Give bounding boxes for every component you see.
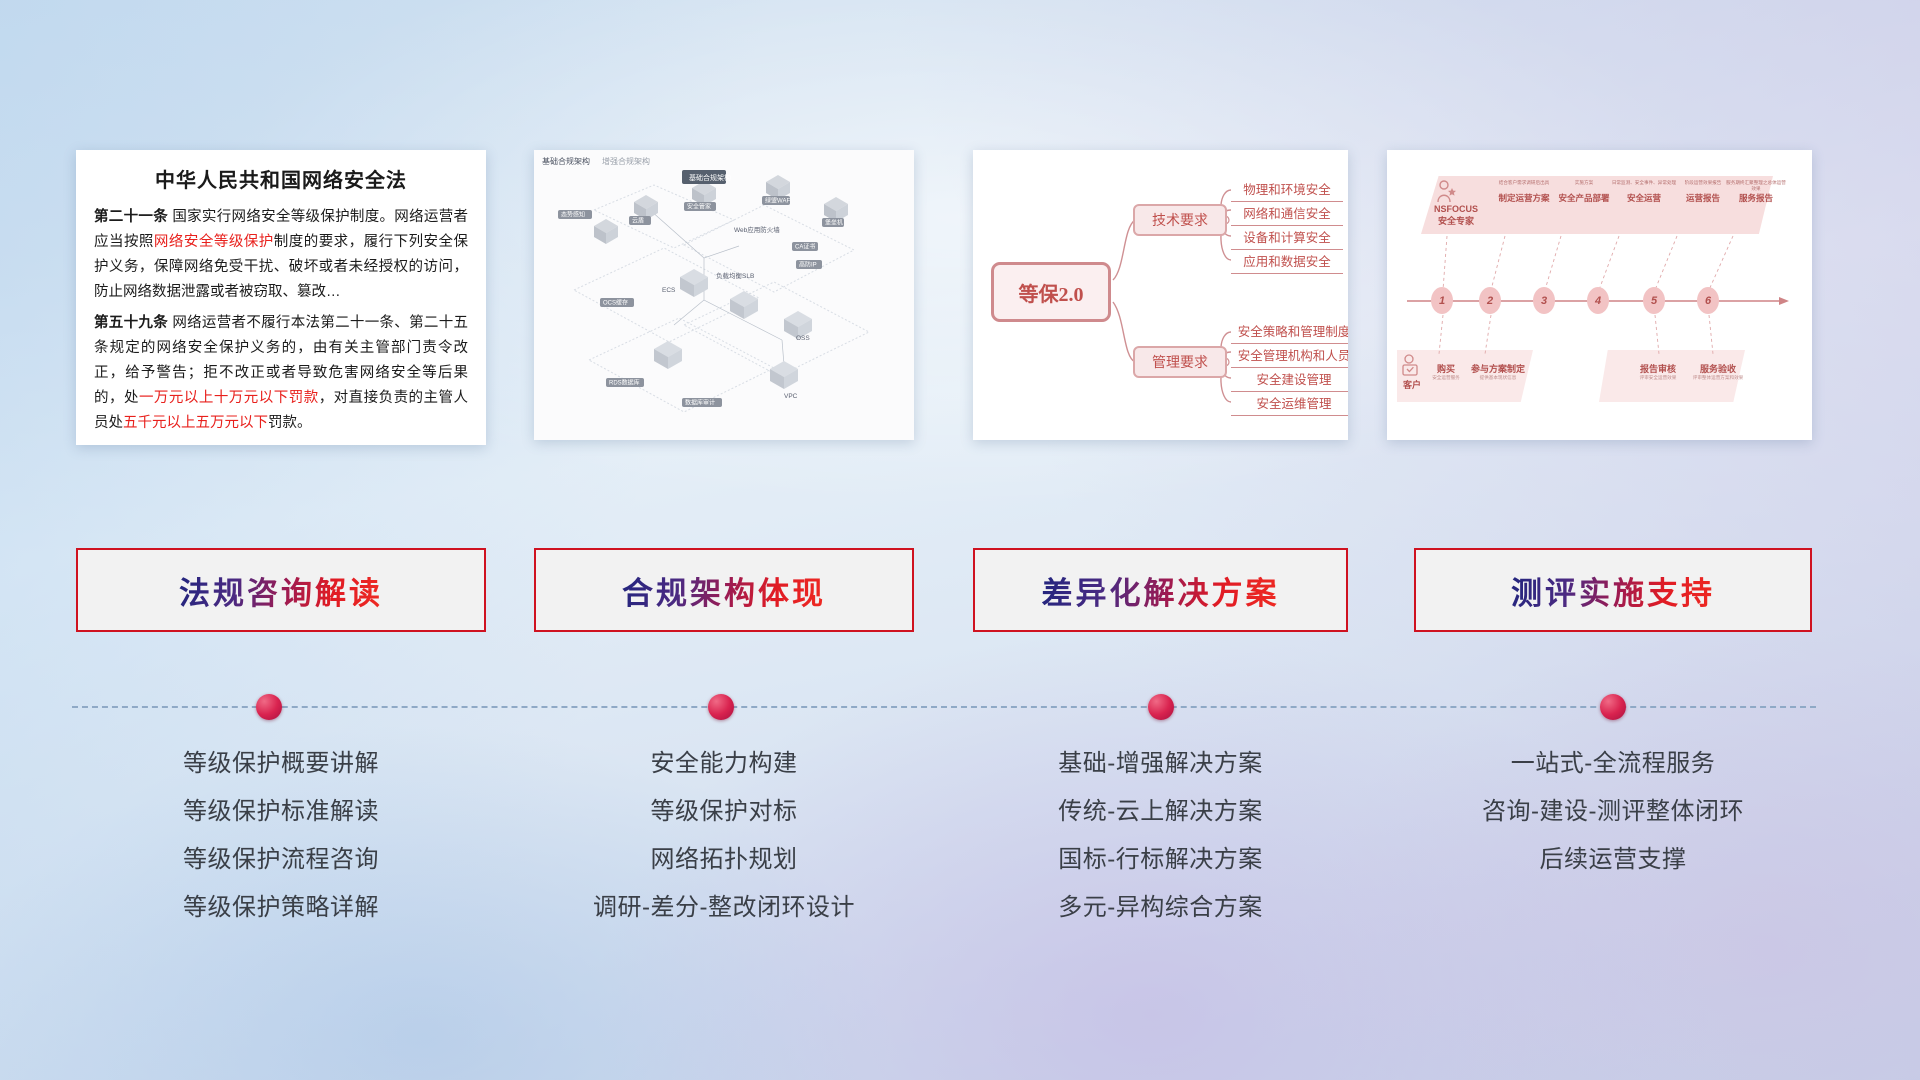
title-plate-1[interactable]: 法规咨询解读 <box>76 548 486 632</box>
law-article-number-59: 第五十九条 <box>94 315 168 331</box>
timeline-dot-4[interactable] <box>1600 694 1626 720</box>
title-plate-4[interactable]: 测评实施支持 <box>1414 548 1812 632</box>
list-item[interactable]: 咨询-建设-测评整体闭环 <box>1414 788 1812 836</box>
arch-node-2: 安全管家 <box>687 203 711 211</box>
image-card-row: 中华人民共和国网络安全法 第二十一条 国家实行网络安全等级保护制度。网络运营者应… <box>0 150 1920 450</box>
arch-node-7: OCS缓存 <box>603 299 628 307</box>
nsfocus-axis-node-5[interactable]: 5 <box>1643 287 1665 314</box>
list-item[interactable]: 调研-差分-整改闭环设计 <box>534 884 914 932</box>
mindmap-diagram: 等保2.0 技术要求 管理要求 物理和环境安全 网络和通信安全 设备和计算安全 … <box>973 150 1348 440</box>
mindmap-branch-management[interactable]: 管理要求 <box>1133 346 1227 378</box>
arch-label-slb: 负载均衡SLB <box>716 271 754 280</box>
nsfocus-bottom-step-1[interactable]: 购买 安全运营服务 <box>1425 362 1467 381</box>
arch-label-ecs: ECS <box>662 287 676 294</box>
arch-node-0: 态势感知 <box>561 211 585 219</box>
nsfocus-diagram: NSFOCUS 安全专家 结合客户需求调研后出具 制定运营方案 实施方案 安全产… <box>1387 150 1812 440</box>
list-item[interactable]: 网络拓扑规划 <box>534 836 914 884</box>
law-paragraph-21: 第二十一条 国家实行网络安全等级保护制度。网络运营者应当按照网络安全等级保护制度… <box>94 205 468 305</box>
arch-node-5: CA证书 <box>795 243 815 251</box>
nsfocus-axis-node-6[interactable]: 6 <box>1697 287 1719 314</box>
list-item[interactable]: 多元-异构综合方案 <box>973 884 1348 932</box>
arch-node-3: 绿盟WAF <box>765 197 790 205</box>
law-title: 中华人民共和国网络安全法 <box>94 164 468 193</box>
title-plate-3-label: 差异化解决方案 <box>1042 568 1280 613</box>
list-item[interactable]: 等级保护概要讲解 <box>76 740 486 788</box>
list-item[interactable]: 等级保护标准解读 <box>76 788 486 836</box>
nsfocus-bottom-step-4-sub: 评审整体运营方案和效果 <box>1685 375 1751 381</box>
list-item[interactable]: 传统-云上解决方案 <box>973 788 1348 836</box>
nsfocus-bottom-step-3-sub: 评审安全运营效果 <box>1627 375 1689 381</box>
mindmap-leaf-mgmt-2[interactable]: 安全管理机构和人员 <box>1231 342 1348 368</box>
law-article-number-21: 第二十一条 <box>94 209 168 225</box>
arch-node-9: 数据库审计 <box>685 399 715 407</box>
mindmap-leaf-tech-4[interactable]: 应用和数据安全 <box>1231 248 1343 274</box>
title-plate-4-label: 测评实施支持 <box>1511 568 1715 613</box>
card-cloud-architecture[interactable]: 基础合规架构 增强合规架构 <box>534 150 914 440</box>
list-item[interactable]: 等级保护对标 <box>534 788 914 836</box>
timeline-dot-2[interactable] <box>708 694 734 720</box>
arch-node-6: 高防IP <box>799 261 817 269</box>
mindmap-leaf-mgmt-3[interactable]: 安全建设管理 <box>1231 366 1348 392</box>
mindmap-branch-technical[interactable]: 技术要求 <box>1133 204 1227 236</box>
arch-label-waf: Web应用防火墙 <box>734 225 780 234</box>
law-highlight-59-b: 五千元以上五万元以下 <box>123 415 268 431</box>
law-body: 中华人民共和国网络安全法 第二十一条 国家实行网络安全等级保护制度。网络运营者应… <box>76 150 486 445</box>
column-list-3: 基础-增强解决方案 传统-云上解决方案 国标-行标解决方案 多元-异构综合方案 <box>973 740 1348 932</box>
list-item[interactable]: 后续运营支撑 <box>1414 836 1812 884</box>
nsfocus-bottom-step-4-main: 服务验收 <box>1685 362 1751 375</box>
nsfocus-axis-node-3[interactable]: 3 <box>1533 287 1555 314</box>
architecture-diagram: 基础合规架构 增强合规架构 <box>534 150 914 440</box>
title-plate-1-label: 法规咨询解读 <box>179 568 383 613</box>
card-cybersecurity-law[interactable]: 中华人民共和国网络安全法 第二十一条 国家实行网络安全等级保护制度。网络运营者应… <box>76 150 486 445</box>
law-highlight-21: 网络安全等级保护 <box>154 234 274 250</box>
mindmap-leaf-mgmt-1[interactable]: 安全策略和管理制度 <box>1231 318 1348 344</box>
nsfocus-axis-node-1[interactable]: 1 <box>1431 287 1453 314</box>
column-list-4: 一站式-全流程服务 咨询-建设-测评整体闭环 后续运营支撑 <box>1414 740 1812 884</box>
timeline-dot-1[interactable] <box>256 694 282 720</box>
nsfocus-bottom-step-1-main: 购买 <box>1425 362 1467 375</box>
card-nsfocus-timeline[interactable]: NSFOCUS 安全专家 结合客户需求调研后出具 制定运营方案 实施方案 安全产… <box>1387 150 1812 440</box>
mindmap-leaf-tech-1[interactable]: 物理和环境安全 <box>1231 176 1343 202</box>
column-list-2: 安全能力构建 等级保护对标 网络拓扑规划 调研-差分-整改闭环设计 <box>534 740 914 932</box>
nsfocus-bottom-step-4[interactable]: 服务验收 评审整体运营方案和效果 <box>1685 362 1751 381</box>
arch-node-8: RDS数据库 <box>609 379 640 387</box>
list-item[interactable]: 基础-增强解决方案 <box>973 740 1348 788</box>
nsfocus-bottom-step-1-sub: 安全运营服务 <box>1425 375 1467 381</box>
timeline-axis <box>0 694 1920 720</box>
arch-banner-label: 基础合规架构 <box>689 173 731 182</box>
column-list-1: 等级保护概要讲解 等级保护标准解读 等级保护流程咨询 等级保护策略详解 <box>76 740 486 932</box>
mindmap-leaf-mgmt-4[interactable]: 安全运维管理 <box>1231 390 1348 416</box>
mindmap-leaf-tech-2[interactable]: 网络和通信安全 <box>1231 200 1343 226</box>
nsfocus-bottom-step-3-main: 报告审核 <box>1627 362 1689 375</box>
list-item[interactable]: 一站式-全流程服务 <box>1414 740 1812 788</box>
mindmap-leaf-tech-3[interactable]: 设备和计算安全 <box>1231 224 1343 250</box>
arch-label-vpc: VPC <box>784 393 798 400</box>
mindmap-root-node[interactable]: 等保2.0 <box>991 262 1111 322</box>
law-text-59-c: 罚款。 <box>268 415 312 431</box>
architecture-svg: 态势感知 云盾 安全管家 绿盟WAF 堡垒机 CA证书 高防IP OCS缓存 <box>534 150 914 440</box>
nsfocus-bottom-step-3[interactable]: 报告审核 评审安全运营效果 <box>1627 362 1689 381</box>
nsfocus-axis-node-4[interactable]: 4 <box>1587 287 1609 314</box>
column-list-row: 等级保护概要讲解 等级保护标准解读 等级保护流程咨询 等级保护策略详解 安全能力… <box>0 740 1920 1020</box>
law-paragraph-59: 第五十九条 网络运营者不履行本法第二十一条、第二十五条规定的网络安全保护义务的，… <box>94 311 468 436</box>
arch-node-1: 云盾 <box>632 218 644 225</box>
title-plate-2[interactable]: 合规架构体现 <box>534 548 914 632</box>
title-plate-2-label: 合规架构体现 <box>622 568 826 613</box>
title-plate-row: 法规咨询解读 合规架构体现 差异化解决方案 测评实施支持 <box>0 548 1920 636</box>
nsfocus-bottom-step-2[interactable]: 参与方案制定 提供基本现状信息 <box>1463 362 1533 381</box>
nsfocus-bottom-step-2-sub: 提供基本现状信息 <box>1463 375 1533 381</box>
arch-node-4: 堡垒机 <box>825 219 843 227</box>
list-item[interactable]: 等级保护流程咨询 <box>76 836 486 884</box>
nsfocus-bottom-step-2-main: 参与方案制定 <box>1463 362 1533 375</box>
arch-label-oss: OSS <box>796 335 810 342</box>
timeline-dot-3[interactable] <box>1148 694 1174 720</box>
card-mindmap[interactable]: 等保2.0 技术要求 管理要求 物理和环境安全 网络和通信安全 设备和计算安全 … <box>973 150 1348 440</box>
nsfocus-axis-node-2[interactable]: 2 <box>1479 287 1501 314</box>
list-item[interactable]: 国标-行标解决方案 <box>973 836 1348 884</box>
title-plate-3[interactable]: 差异化解决方案 <box>973 548 1348 632</box>
list-item[interactable]: 安全能力构建 <box>534 740 914 788</box>
customer-label: 客户 <box>1399 378 1425 391</box>
list-item[interactable]: 等级保护策略详解 <box>76 884 486 932</box>
law-highlight-59-a: 一万元以上十万元以下罚款 <box>139 390 319 406</box>
timeline-dashed-line <box>72 706 1816 708</box>
